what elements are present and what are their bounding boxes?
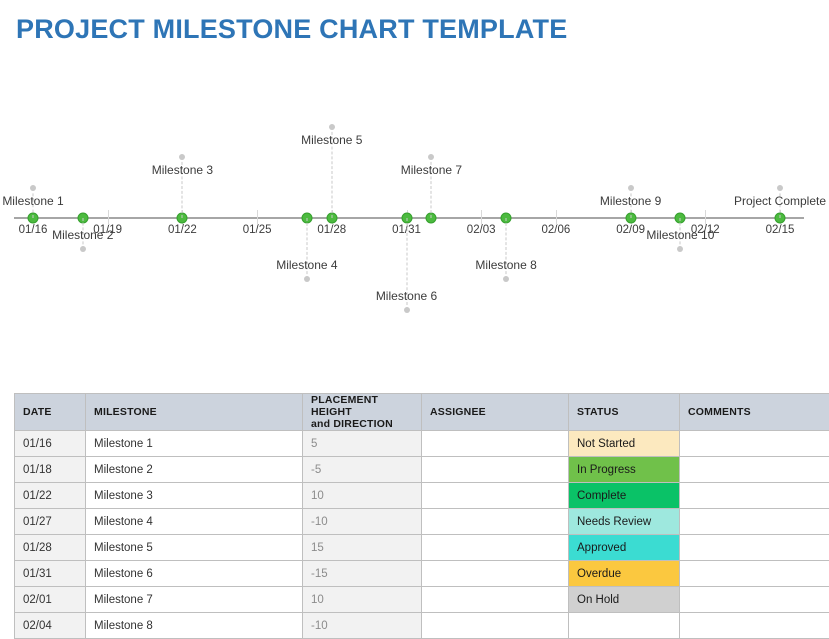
table-row[interactable]: 01/18Milestone 2-5In Progress (15, 457, 829, 483)
cell-assignee[interactable] (422, 509, 569, 535)
milestone-label: Milestone 10 (646, 228, 714, 242)
milestone-label: Milestone 7 (401, 163, 462, 177)
cell-assignee[interactable] (422, 561, 569, 587)
cell-date[interactable]: 01/16 (15, 431, 86, 457)
cell-date[interactable]: 02/01 (15, 587, 86, 613)
cell-milestone[interactable]: Milestone 4 (86, 509, 303, 535)
cell-assignee[interactable] (422, 535, 569, 561)
column-header-placement-line1: PLACEMENT HEIGHT (311, 394, 378, 418)
milestone-endpoint-dot (677, 246, 683, 252)
cell-milestone[interactable]: Milestone 6 (86, 561, 303, 587)
milestone-label: Project Complete (734, 194, 826, 208)
cell-date[interactable]: 01/22 (15, 483, 86, 509)
axis-tick-mark (705, 210, 706, 225)
column-header-comments: COMMENTS (680, 394, 829, 431)
milestone-endpoint-dot (428, 154, 434, 160)
cell-assignee[interactable] (422, 483, 569, 509)
cell-placement[interactable]: -5 (303, 457, 422, 483)
page-title: PROJECT MILESTONE CHART TEMPLATE (16, 14, 567, 45)
cell-placement[interactable]: 5 (303, 431, 422, 457)
cell-comments[interactable] (680, 535, 829, 561)
milestone-endpoint-dot (777, 185, 783, 191)
cell-milestone[interactable]: Milestone 2 (86, 457, 303, 483)
cell-date[interactable]: 01/28 (15, 535, 86, 561)
table-row[interactable]: 01/22Milestone 310Complete (15, 483, 829, 509)
milestone-endpoint-dot (179, 154, 185, 160)
milestone-label: Milestone 4 (276, 258, 337, 272)
milestone-endpoint-dot (329, 124, 335, 130)
table-row[interactable]: 02/01Milestone 710On Hold (15, 587, 829, 613)
cell-status[interactable]: On Hold (569, 587, 680, 613)
cell-placement[interactable]: -10 (303, 509, 422, 535)
cell-status[interactable]: Approved (569, 535, 680, 561)
table-row[interactable]: 01/31Milestone 6-15Overdue (15, 561, 829, 587)
cell-date[interactable]: 01/27 (15, 509, 86, 535)
cell-date[interactable]: 01/18 (15, 457, 86, 483)
column-header-date: DATE (15, 394, 86, 431)
cell-milestone[interactable]: Milestone 7 (86, 587, 303, 613)
milestone-label: Milestone 5 (301, 133, 362, 147)
column-header-placement: PLACEMENT HEIGHT and DIRECTION (303, 394, 422, 431)
cell-assignee[interactable] (422, 457, 569, 483)
milestone-endpoint-dot (404, 307, 410, 313)
milestone-label: Milestone 2 (52, 228, 113, 242)
cell-placement[interactable]: -15 (303, 561, 422, 587)
cell-status[interactable]: Complete (569, 483, 680, 509)
cell-status[interactable]: Not Started (569, 431, 680, 457)
cell-milestone[interactable]: Milestone 3 (86, 483, 303, 509)
cell-placement[interactable]: 10 (303, 483, 422, 509)
table-body: 01/16Milestone 15Not Started01/18Milesto… (15, 431, 829, 639)
milestone-label: Milestone 9 (600, 194, 661, 208)
column-header-placement-line2: and DIRECTION (311, 418, 393, 430)
axis-tick-mark (257, 210, 258, 225)
cell-status[interactable]: Needs Review (569, 509, 680, 535)
cell-placement[interactable]: 15 (303, 535, 422, 561)
cell-comments[interactable] (680, 561, 829, 587)
axis-tick-label: 02/03 (467, 224, 496, 236)
cell-comments[interactable] (680, 509, 829, 535)
cell-status[interactable]: Overdue (569, 561, 680, 587)
cell-milestone[interactable]: Milestone 1 (86, 431, 303, 457)
axis-tick-label: 02/15 (766, 224, 795, 236)
cell-comments[interactable] (680, 587, 829, 613)
cell-status[interactable]: In Progress (569, 457, 680, 483)
milestone-label: Milestone 1 (2, 194, 63, 208)
milestone-endpoint-dot (503, 276, 509, 282)
axis-tick-label: 01/25 (243, 224, 272, 236)
milestone-label: Milestone 6 (376, 289, 437, 303)
table-row[interactable]: 01/28Milestone 515Approved (15, 535, 829, 561)
milestone-table: DATE MILESTONE PLACEMENT HEIGHT and DIRE… (14, 393, 829, 639)
milestone-endpoint-dot (304, 276, 310, 282)
milestone-endpoint-dot (628, 185, 634, 191)
axis-tick-label: 02/06 (542, 224, 571, 236)
cell-comments[interactable] (680, 457, 829, 483)
milestone-endpoint-dot (30, 185, 36, 191)
cell-milestone[interactable]: Milestone 5 (86, 535, 303, 561)
table-header-row: DATE MILESTONE PLACEMENT HEIGHT and DIRE… (15, 394, 829, 431)
cell-comments[interactable] (680, 483, 829, 509)
column-header-milestone: MILESTONE (86, 394, 303, 431)
axis-tick-mark (556, 210, 557, 225)
axis-tick-label: 01/28 (317, 224, 346, 236)
cell-assignee[interactable] (422, 431, 569, 457)
milestone-label: Milestone 8 (475, 258, 536, 272)
milestone-timeline-chart: 01/1601/1901/2201/2501/2801/3102/0302/06… (0, 60, 829, 390)
milestone-endpoint-dot (80, 246, 86, 252)
axis-tick-label: 02/09 (616, 224, 645, 236)
axis-tick-mark (481, 210, 482, 225)
milestone-label: Milestone 3 (152, 163, 213, 177)
cell-comments[interactable] (680, 431, 829, 457)
axis-tick-label: 01/16 (19, 224, 48, 236)
cell-assignee[interactable] (422, 587, 569, 613)
table-row[interactable]: 01/27Milestone 4-10Needs Review (15, 509, 829, 535)
cell-placement[interactable]: 10 (303, 587, 422, 613)
axis-tick-label: 01/22 (168, 224, 197, 236)
column-header-status: STATUS (569, 394, 680, 431)
column-header-assignee: ASSIGNEE (422, 394, 569, 431)
table-row[interactable]: 01/16Milestone 15Not Started (15, 431, 829, 457)
axis-tick-mark (108, 210, 109, 225)
cell-date[interactable]: 01/31 (15, 561, 86, 587)
